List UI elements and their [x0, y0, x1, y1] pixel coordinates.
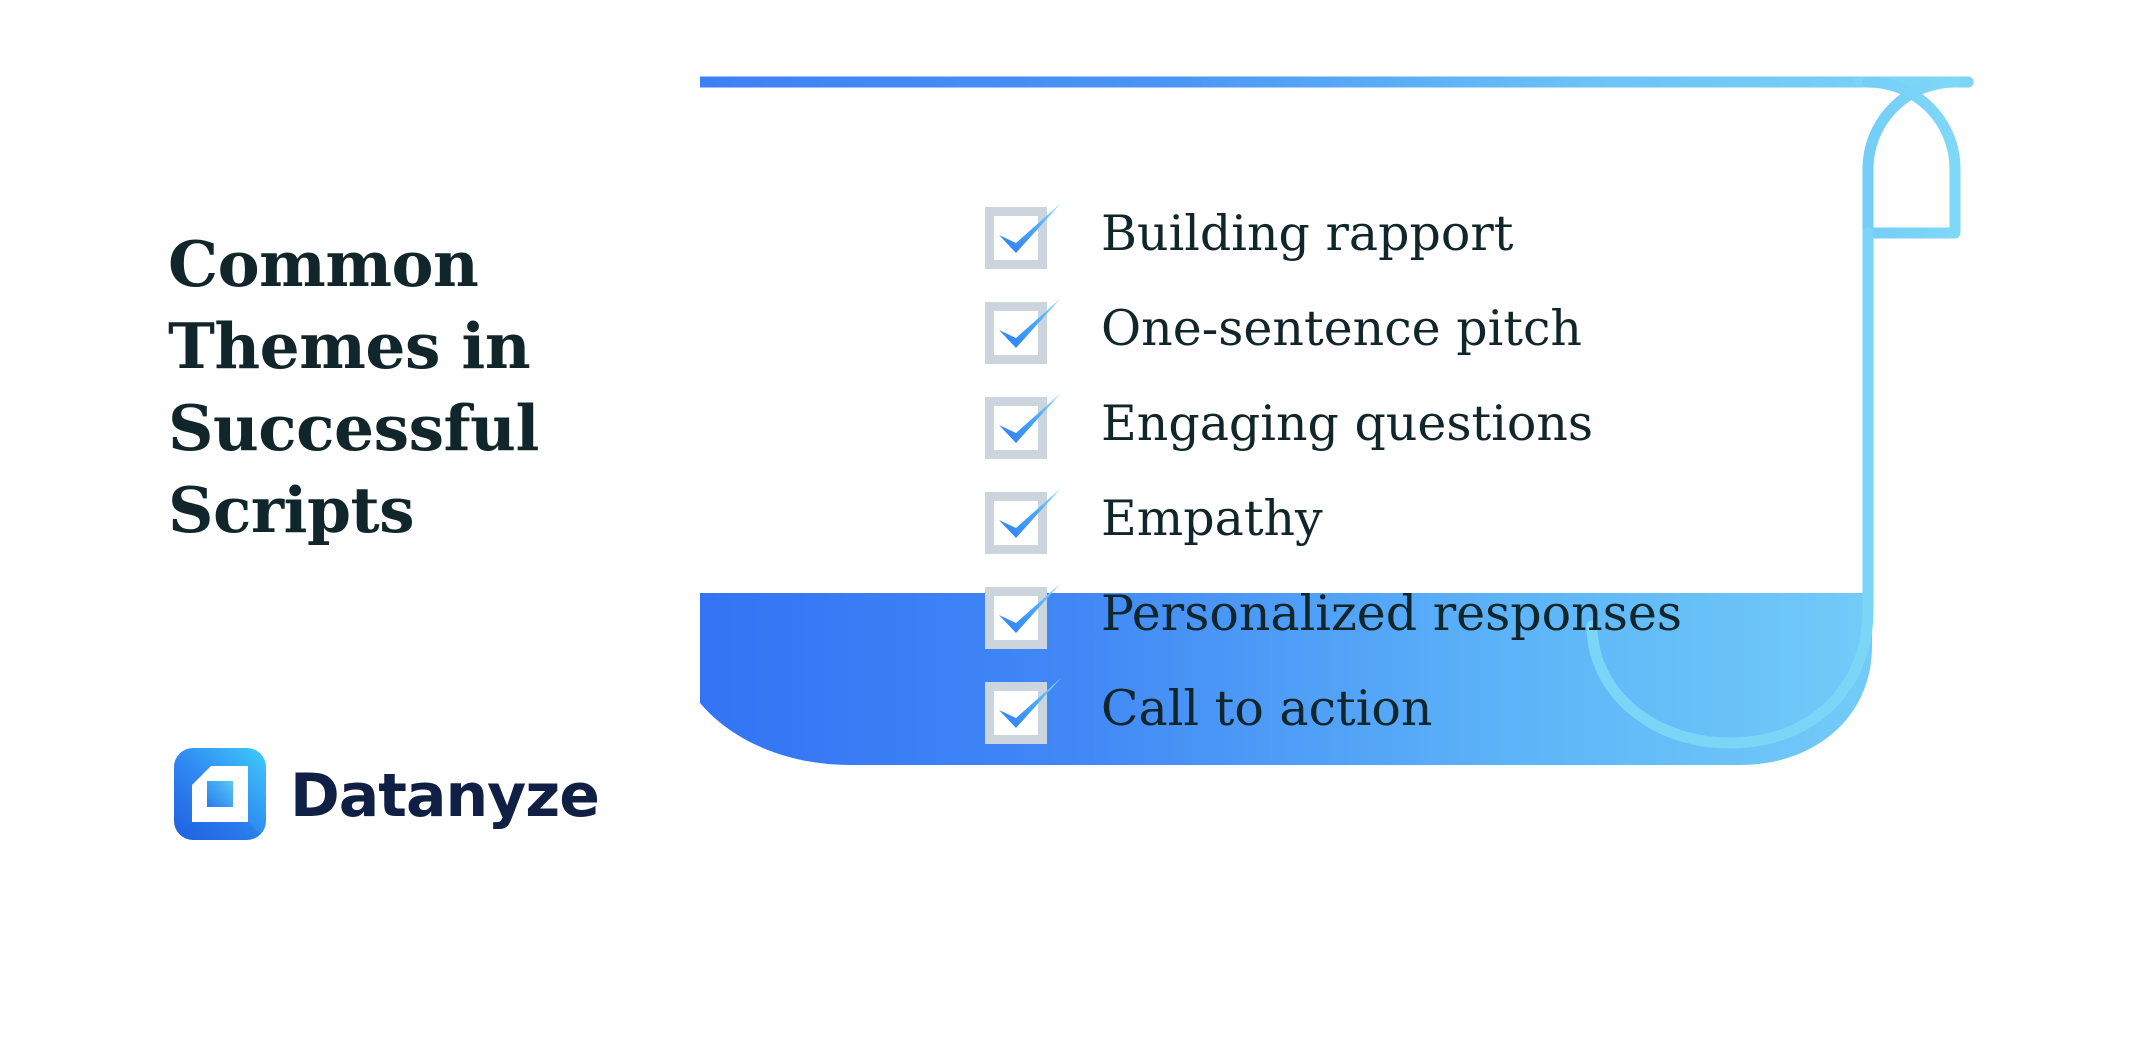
datanyze-logo-mark-icon [174, 748, 266, 840]
datanyze-logo: Datanyze [174, 742, 604, 846]
checkbox[interactable] [983, 682, 1045, 744]
list-item[interactable]: Personalized responses [983, 583, 1723, 678]
infographic-canvas: Common Themes in Successful Scripts [0, 0, 2134, 1043]
list-item[interactable]: One-sentence pitch [983, 298, 1723, 393]
checkbox[interactable] [983, 302, 1045, 364]
scroll-top-right-curl [1868, 82, 1955, 233]
list-item[interactable]: Building rapport [983, 203, 1723, 298]
checkbox-inner [994, 216, 1038, 260]
checkbox-inner [994, 691, 1038, 735]
list-item-label: Empathy [1101, 488, 1323, 550]
list-item[interactable]: Empathy [983, 488, 1723, 583]
list-item[interactable]: Engaging questions [983, 393, 1723, 488]
datanyze-wordmark: Datanyze [290, 766, 599, 826]
checkbox-inner [994, 406, 1038, 450]
checklist: Building rapport One-sentence pitch [983, 203, 1723, 773]
checkbox[interactable] [983, 207, 1045, 269]
list-item-label: One-sentence pitch [1101, 298, 1582, 360]
list-item[interactable]: Call to action [983, 678, 1723, 773]
list-item-label: Call to action [1101, 678, 1432, 740]
checkbox[interactable] [983, 492, 1045, 554]
list-item-label: Engaging questions [1101, 393, 1593, 455]
checkbox-inner [994, 501, 1038, 545]
checkbox[interactable] [983, 587, 1045, 649]
page-title: Common Themes in Successful Scripts [168, 224, 638, 552]
checkbox[interactable] [983, 397, 1045, 459]
list-item-label: Personalized responses [1101, 583, 1682, 645]
left-panel: Common Themes in Successful Scripts [0, 0, 700, 1043]
list-item-label: Building rapport [1101, 203, 1513, 265]
checkbox-inner [994, 596, 1038, 640]
checkbox-inner [994, 311, 1038, 355]
